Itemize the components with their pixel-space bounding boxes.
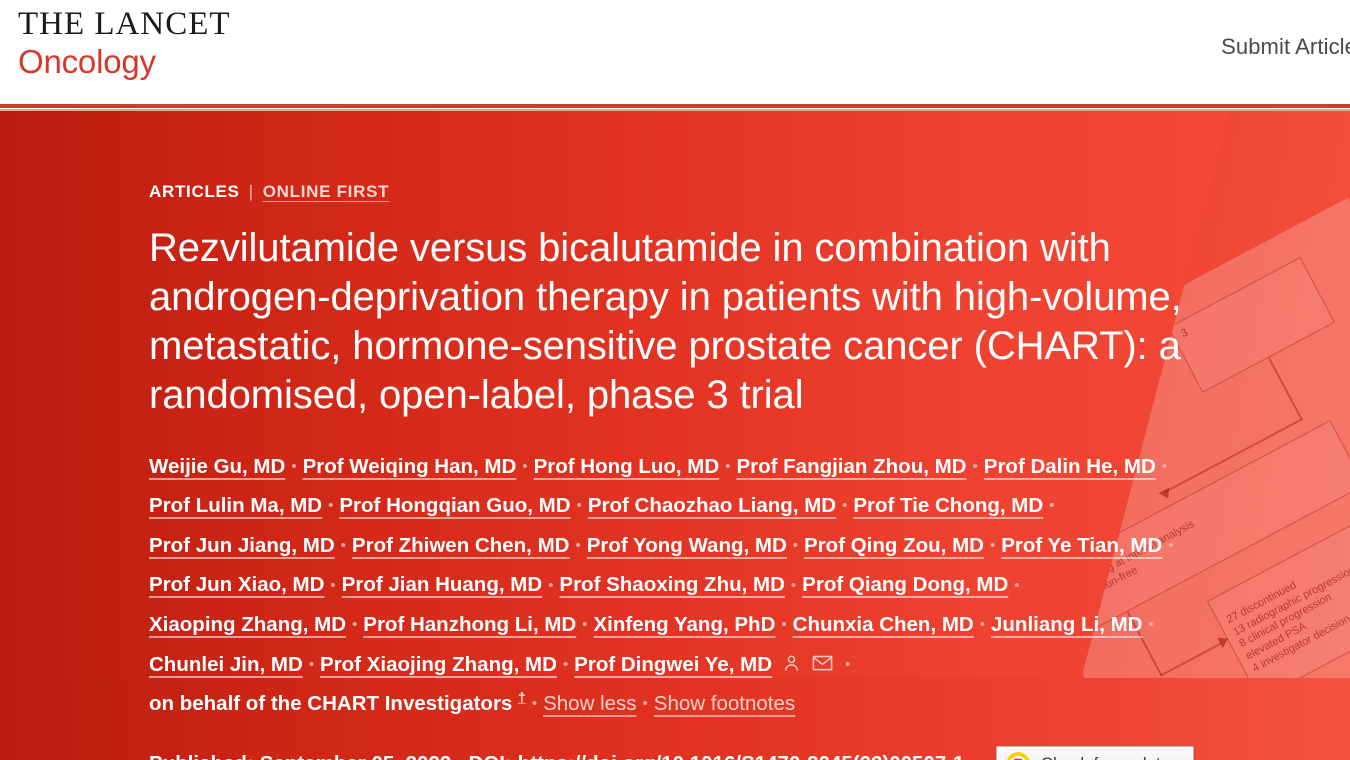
bullet-separator: •: [352, 611, 357, 640]
author-link[interactable]: Prof Hong Luo, MD: [534, 455, 720, 478]
bullet-separator: •: [781, 611, 786, 640]
bullet-separator: •: [532, 690, 537, 719]
bullet-separator: •: [575, 532, 580, 561]
header-nav: Submit Article: [1221, 34, 1350, 60]
bullet-separator: •: [577, 492, 582, 521]
author-link[interactable]: Prof Jun Xiao, MD: [149, 573, 324, 596]
author-link[interactable]: Prof Zhiwen Chen, MD: [352, 534, 570, 557]
bullet-separator: •: [330, 572, 335, 601]
bullet-separator: •: [1049, 492, 1054, 521]
author-link[interactable]: Prof Tie Chong, MD: [853, 494, 1043, 517]
site-header: THE LANCET Oncology Submit Article: [0, 0, 1350, 104]
bullet-separator: •: [457, 755, 462, 760]
author-link[interactable]: Chunxia Chen, MD: [793, 613, 974, 636]
footnote-marker[interactable]: †: [518, 689, 526, 705]
bullet-separator: •: [1148, 611, 1153, 640]
watermark-connector: [1268, 357, 1302, 420]
online-first-link[interactable]: ONLINE FIRST: [263, 182, 389, 202]
group-authorship: on behalf of the CHART Investigators †: [149, 692, 526, 715]
corresponding-author-icons: [782, 653, 833, 673]
author-list: Weijie Gu, MD•Prof Weiqing Han, MD•Prof …: [149, 447, 1219, 724]
bullet-separator: •: [522, 453, 527, 482]
publication-metadata: Published: September 05, 2022 • DOI: htt…: [149, 746, 1254, 760]
author-link[interactable]: Xinfeng Yang, PhD: [594, 613, 776, 636]
author-link[interactable]: Prof Hongqian Guo, MD: [339, 494, 570, 517]
bullet-separator: •: [845, 651, 850, 680]
bullet-separator: •: [563, 651, 568, 680]
bullet-separator: •: [970, 755, 975, 760]
author-link[interactable]: Prof Xiaojing Zhang, MD: [320, 653, 557, 676]
author-link[interactable]: Xiaoping Zhang, MD: [149, 613, 346, 636]
check-for-updates-label: Check for updates: [1041, 754, 1179, 760]
author-link[interactable]: Prof Chaozhao Liang, MD: [588, 494, 836, 517]
published-label: Published:: [149, 752, 254, 760]
bullet-separator: •: [990, 532, 995, 561]
author-link[interactable]: Prof Dingwei Ye, MD: [574, 653, 772, 676]
author-link[interactable]: Prof Jian Huang, MD: [342, 573, 542, 596]
person-icon[interactable]: [782, 653, 801, 673]
bullet-separator: •: [548, 572, 553, 601]
bullet-separator: •: [973, 453, 978, 482]
author-link[interactable]: Chunlei Jin, MD: [149, 653, 303, 676]
bullet-separator: •: [328, 492, 333, 521]
author-link[interactable]: Junliang Li, MD: [991, 613, 1142, 636]
article-title: Rezvilutamide versus bicalutamide in com…: [149, 224, 1249, 420]
author-link[interactable]: Prof Ye Tian, MD: [1001, 534, 1162, 557]
bullet-separator: •: [793, 532, 798, 561]
envelope-icon[interactable]: [812, 653, 833, 673]
author-link[interactable]: Prof Yong Wang, MD: [587, 534, 787, 557]
author-link[interactable]: Prof Shaoxing Zhu, MD: [559, 573, 785, 596]
bullet-separator: •: [643, 690, 648, 719]
crossmark-icon: [1005, 751, 1031, 760]
header-divider-thin: [0, 109, 1350, 111]
bullet-separator: •: [980, 611, 985, 640]
author-link[interactable]: Prof Qing Zou, MD: [804, 534, 984, 557]
bullet-separator: •: [582, 611, 587, 640]
author-link[interactable]: Prof Qiang Dong, MD: [802, 573, 1008, 596]
bullet-separator: •: [842, 492, 847, 521]
published-date: September 05, 2022: [260, 752, 451, 760]
doi-link[interactable]: https://doi.org/10.1016/S1470-2045(22)00…: [518, 752, 965, 760]
header-divider: [0, 104, 1350, 108]
kicker-separator: |: [249, 182, 254, 202]
brand-oncology: Oncology: [18, 45, 231, 78]
author-link[interactable]: Prof Hanzhong Li, MD: [363, 613, 576, 636]
article-banner-page: THE LANCET Oncology Submit Article 3 218…: [0, 0, 1350, 760]
author-link[interactable]: Prof Dalin He, MD: [984, 455, 1156, 478]
doi-label: DOI:: [469, 752, 512, 760]
author-link[interactable]: Weijie Gu, MD: [149, 455, 285, 478]
author-link[interactable]: Prof Lulin Ma, MD: [149, 494, 322, 517]
lancet-oncology-logo[interactable]: THE LANCET Oncology: [18, 8, 231, 78]
bullet-separator: •: [341, 532, 346, 561]
article-hero-banner: 3 218 ongoing at interim analysis progre…: [0, 111, 1350, 760]
article-kicker: ARTICLES | ONLINE FIRST: [149, 182, 1254, 202]
submit-article-link[interactable]: Submit Article: [1221, 34, 1350, 60]
author-link[interactable]: Prof Fangjian Zhou, MD: [736, 455, 966, 478]
check-for-updates-button[interactable]: Check for updates: [996, 746, 1194, 760]
author-link[interactable]: Prof Weiqing Han, MD: [303, 455, 517, 478]
show-less-link[interactable]: Show less: [543, 692, 636, 715]
article-header-content: ARTICLES | ONLINE FIRST Rezvilutamide ve…: [149, 111, 1254, 760]
article-type-label: ARTICLES: [149, 182, 240, 202]
bullet-separator: •: [1014, 572, 1019, 601]
show-footnotes-link[interactable]: Show footnotes: [654, 692, 795, 715]
author-link[interactable]: Prof Jun Jiang, MD: [149, 534, 335, 557]
bullet-separator: •: [791, 572, 796, 601]
bullet-separator: •: [1162, 453, 1167, 482]
bullet-separator: •: [309, 651, 314, 680]
author-list-items: Weijie Gu, MD•Prof Weiqing Han, MD•Prof …: [149, 455, 1180, 715]
bullet-separator: •: [725, 453, 730, 482]
brand-the-lancet: THE LANCET: [18, 8, 231, 41]
bullet-separator: •: [291, 453, 296, 482]
bullet-separator: •: [1168, 532, 1173, 561]
